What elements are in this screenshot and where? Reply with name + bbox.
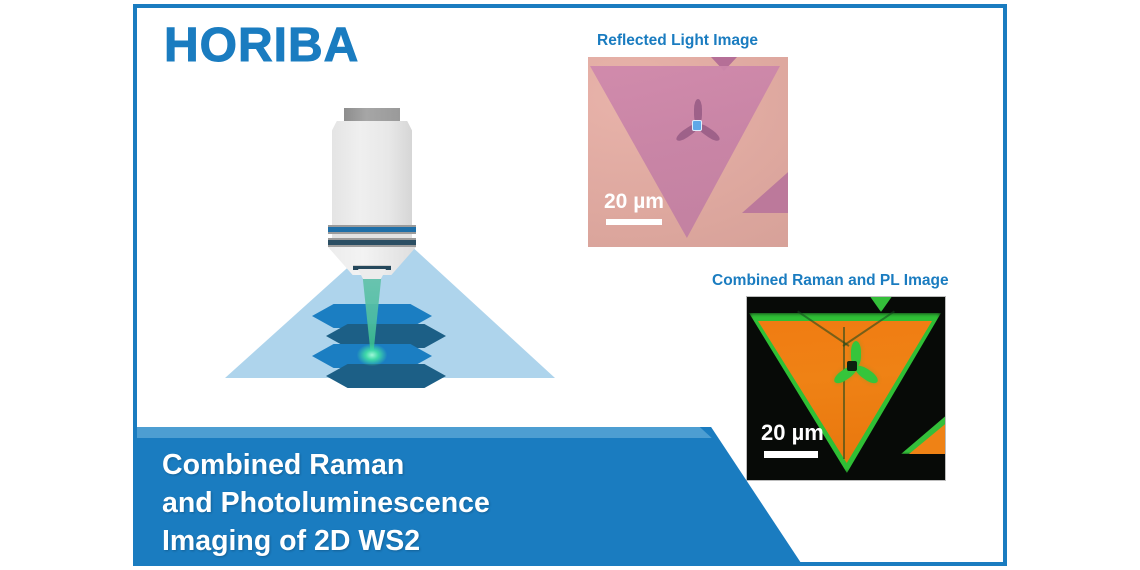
- combined-raman-pl-title: Combined Raman and PL Image: [712, 272, 949, 290]
- objective-barrel: [332, 121, 412, 225]
- poster-title-line-3: Imaging of 2D WS2: [162, 523, 490, 561]
- reflected-light-scalebar: 20 µm: [604, 191, 664, 225]
- flake-layer-4: [326, 364, 446, 388]
- raman-pl-scalebar-line: [764, 451, 818, 458]
- combined-raman-pl-image: 20 µm: [747, 297, 945, 480]
- microscope-illustration: [225, 108, 555, 383]
- reflected-light-nucleation-particle: [692, 120, 702, 131]
- poster-title: Combined Raman and Photoluminescence Ima…: [162, 447, 490, 561]
- poster-canvas: HORIBA Reflected Light Image 20 µm: [0, 0, 1140, 570]
- laser-focus-spot: [357, 344, 387, 366]
- objective-mount: [344, 108, 400, 121]
- raman-pl-scalebar: 20 µm: [761, 422, 824, 458]
- objective-color-band-upper: [328, 225, 416, 234]
- poster-title-line-2: and Photoluminescence: [162, 485, 490, 523]
- reflected-light-image: 20 µm: [588, 57, 788, 247]
- horiba-logo: HORIBA: [164, 22, 359, 70]
- poster-title-line-1: Combined Raman: [162, 447, 490, 485]
- objective-color-band-lower: [328, 238, 416, 247]
- raman-pl-scalebar-label: 20 µm: [761, 420, 824, 445]
- reflected-light-title: Reflected Light Image: [597, 32, 758, 50]
- reflected-light-scalebar-line: [606, 219, 662, 225]
- raman-pl-defect-center: [847, 361, 857, 371]
- reflected-light-scalebar-label: 20 µm: [604, 190, 664, 213]
